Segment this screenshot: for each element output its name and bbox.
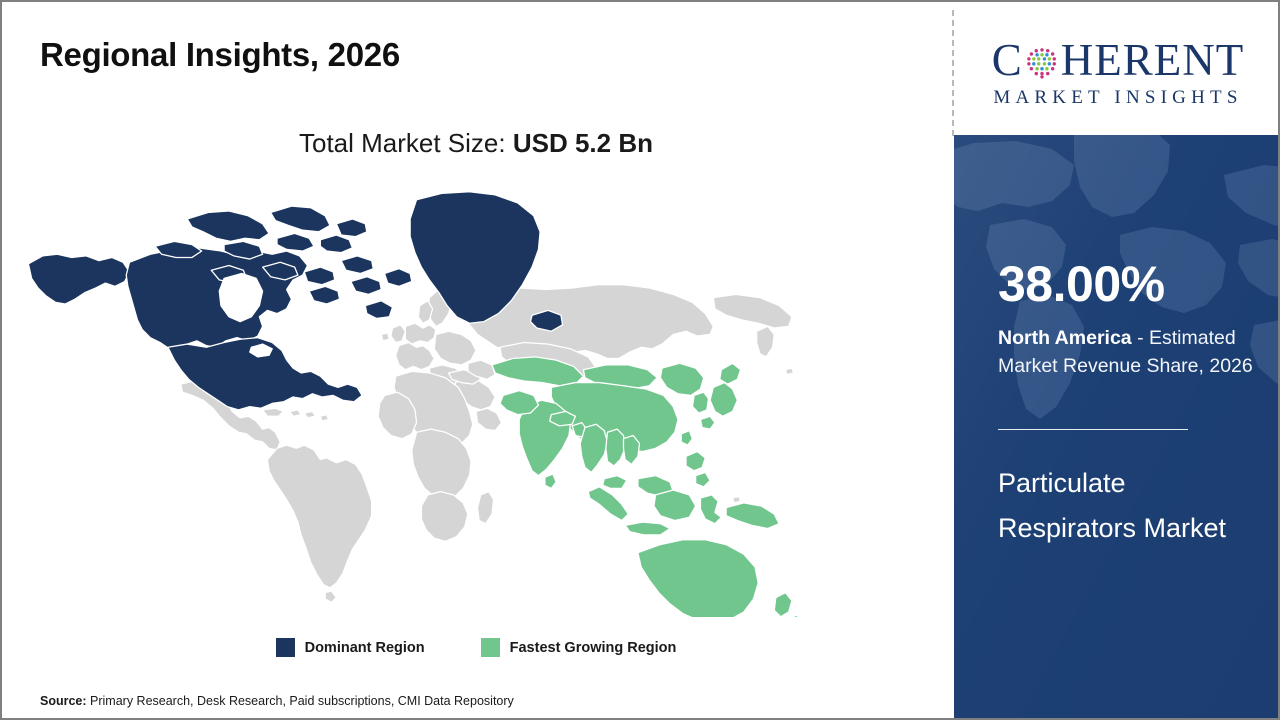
total-market-size: Total Market Size: USD 5.2 Bn: [2, 128, 950, 159]
legend-label-fastest-growing: Fastest Growing Region: [510, 640, 677, 656]
total-market-size-value: USD 5.2 Bn: [513, 128, 653, 158]
panel-divider-rule: [998, 429, 1188, 430]
legend-item-fastest-growing: Fastest Growing Region: [481, 638, 677, 657]
source-note: Source: Primary Research, Desk Research,…: [40, 694, 514, 708]
legend-item-dominant: Dominant Region: [276, 638, 425, 657]
stat-value: 38.00%: [998, 259, 1165, 309]
world-map: [22, 177, 832, 617]
stat-region-name: North America: [998, 327, 1132, 349]
legend-swatch-dominant: [276, 638, 295, 657]
regional-insights-infographic: Regional Insights, 2026 Total Market Siz…: [0, 0, 1280, 720]
vertical-dashed-divider: [952, 10, 954, 136]
market-name: Particulate Respirators Market: [998, 461, 1270, 550]
highlight-panel: 38.00% North America - Estimated Market …: [954, 135, 1280, 720]
source-text: Primary Research, Desk Research, Paid su…: [87, 694, 514, 708]
brand-logo-letter-c: C: [992, 38, 1023, 83]
brand-logo-letters-herent: HERENT: [1061, 38, 1244, 83]
page-title: Regional Insights, 2026: [40, 36, 400, 74]
world-map-svg: [22, 177, 832, 617]
brand-logo[interactable]: C: [960, 18, 1276, 128]
left-content-panel: Regional Insights, 2026 Total Market Siz…: [2, 2, 950, 718]
brand-logo-wordmark: C: [992, 38, 1245, 83]
map-legend: Dominant Region Fastest Growing Region: [2, 638, 950, 657]
stat-description: North America - Estimated Market Revenue…: [998, 325, 1270, 380]
total-market-size-label: Total Market Size:: [299, 128, 513, 158]
legend-swatch-fastest-growing: [481, 638, 500, 657]
brand-logo-subtitle: MARKET INSIGHTS: [993, 87, 1242, 109]
source-label: Source:: [40, 694, 87, 708]
map-region-growth: [492, 357, 803, 617]
legend-label-dominant: Dominant Region: [305, 640, 425, 656]
dotted-globe-icon: [1024, 44, 1060, 80]
